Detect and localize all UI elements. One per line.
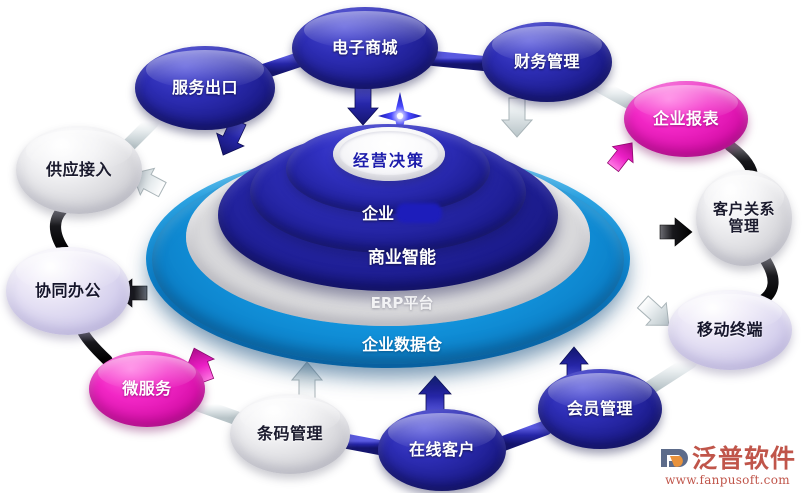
diagram-canvas: 经营决策 企业 商业智能 ERP平台 企业数据仓 电子商城 服务出口 财务管理 … (0, 0, 804, 493)
node-qiyebaobiao[interactable]: 企业报表 (624, 81, 748, 157)
center-label-core: 经营决策 (339, 147, 439, 171)
arrow-from-zaixiankehu (419, 376, 451, 413)
node-label: 服务出口 (172, 79, 238, 97)
node-label: 在线客户 (409, 441, 475, 459)
redacted-blob (396, 203, 442, 223)
center-label-enterprise-text: 企业 (362, 204, 394, 223)
center-label-enterprise: 企业 (0, 200, 804, 224)
node-label: 电子商城 (332, 39, 398, 57)
connector-n12-n2 (128, 122, 152, 146)
connector-n7-n8 (502, 428, 545, 444)
node-dianzishangcheng[interactable]: 电子商城 (292, 7, 438, 89)
connector-n8-n9 (345, 441, 382, 448)
node-tiaomaguanli[interactable]: 条码管理 (230, 394, 350, 474)
connector-n9-n10 (197, 404, 236, 418)
node-label: 微服务 (122, 380, 172, 398)
node-label: 会员管理 (567, 400, 633, 418)
node-label: 供应接入 (46, 161, 112, 179)
node-caiwuguanli[interactable]: 财务管理 (482, 22, 612, 102)
center-label-erp-platform: ERP平台 (0, 292, 804, 313)
arrow-from-dianzishangcheng (348, 87, 378, 125)
center-disc-core: 经营决策 (339, 131, 439, 175)
node-zaixiankehu[interactable]: 在线客户 (378, 409, 506, 491)
center-label-business-intelligence: 商业智能 (0, 243, 804, 268)
node-label: 条码管理 (257, 425, 323, 443)
node-huiyuanguanli[interactable]: 会员管理 (538, 369, 662, 449)
node-weifuwu[interactable]: 微服务 (89, 351, 205, 427)
node-label: 财务管理 (514, 53, 580, 71)
node-fuwuchukou[interactable]: 服务出口 (135, 46, 275, 130)
center-label-data-warehouse: 企业数据仓 (0, 331, 804, 355)
connector-n6-n7 (648, 362, 690, 389)
arrow-from-caiwuguanli (502, 98, 532, 137)
connector-n1-n3 (429, 58, 489, 64)
node-label: 企业报表 (653, 110, 719, 128)
